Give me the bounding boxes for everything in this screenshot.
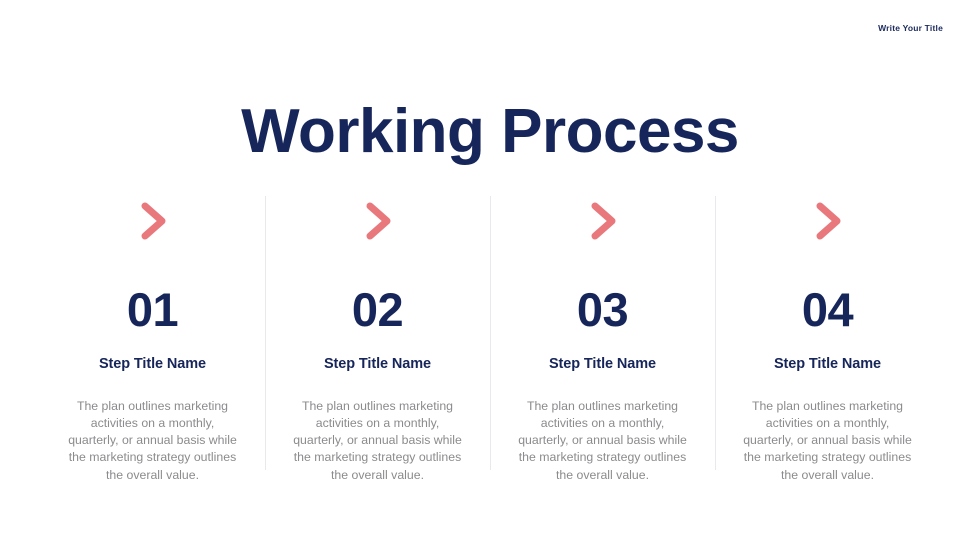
- step-description: The plan outlines marketing activities o…: [743, 398, 913, 484]
- chevron-right-icon: [133, 198, 173, 244]
- step-number: 02: [352, 286, 403, 333]
- steps-row: 01 Step Title Name The plan outlines mar…: [40, 196, 940, 474]
- step-number: 03: [577, 286, 628, 333]
- step-title: Step Title Name: [549, 357, 656, 372]
- step-title: Step Title Name: [324, 357, 431, 372]
- step-number: 04: [802, 286, 853, 333]
- step-description: The plan outlines marketing activities o…: [518, 398, 688, 484]
- step-number: 01: [127, 286, 178, 333]
- step-description: The plan outlines marketing activities o…: [68, 398, 238, 484]
- step-description: The plan outlines marketing activities o…: [293, 398, 463, 484]
- step-title: Step Title Name: [99, 357, 206, 372]
- chevron-right-icon: [583, 198, 623, 244]
- corner-title-label: Write Your Title: [878, 24, 943, 33]
- step-column-1[interactable]: 01 Step Title Name The plan outlines mar…: [40, 196, 265, 474]
- page-title: Working Process: [0, 99, 980, 166]
- chevron-right-icon: [808, 198, 848, 244]
- step-title: Step Title Name: [774, 357, 881, 372]
- step-column-3[interactable]: 03 Step Title Name The plan outlines mar…: [490, 196, 715, 474]
- chevron-right-icon: [358, 198, 398, 244]
- step-column-2[interactable]: 02 Step Title Name The plan outlines mar…: [265, 196, 490, 474]
- step-column-4[interactable]: 04 Step Title Name The plan outlines mar…: [715, 196, 940, 474]
- slide-canvas: Write Your Title Working Process 01 Step…: [0, 0, 980, 551]
